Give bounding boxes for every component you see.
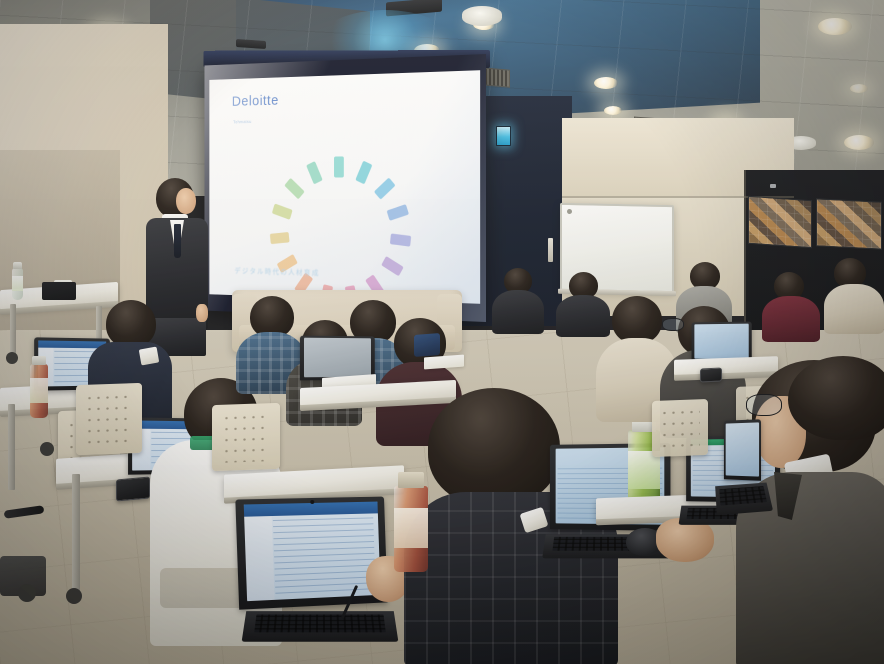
laptop-right-foreground[interactable]: [724, 419, 761, 481]
wheel-segment-12: [270, 232, 290, 244]
downlight-9: [844, 135, 874, 150]
slide-brand-deloitte: Deloitte: [232, 93, 279, 110]
seminar-room-photo: Deloitte Tohmatsu デジタル時代の人材育成: [0, 0, 884, 664]
amber-bottle-left[interactable]: [30, 364, 48, 418]
projection-screen[interactable]: Deloitte Tohmatsu デジタル時代の人材育成: [204, 54, 486, 322]
table-caster-c1: [66, 588, 82, 604]
laptop-center-front[interactable]: [235, 497, 387, 610]
laptop-webcam: [310, 500, 314, 504]
participant-back-center: [492, 268, 544, 332]
ceiling-speaker-1: [462, 6, 502, 26]
table-leg-a1: [10, 304, 16, 356]
equipment-box-left: [42, 282, 76, 300]
laptop-center-front-base[interactable]: [242, 611, 399, 642]
slide-color-wheel-icon: [299, 152, 381, 241]
video-panel-2[interactable]: [816, 198, 882, 249]
smartphone-right[interactable]: [700, 367, 722, 382]
amber-bottle-center[interactable]: [394, 486, 428, 572]
table-caster-a2: [40, 442, 54, 456]
glasses-right-grey: [662, 318, 684, 331]
table-caster-a1: [6, 352, 18, 364]
wheel-segment-5: [390, 234, 411, 247]
wheel-segment-15: [306, 161, 323, 184]
bottle-cap-center: [398, 472, 424, 488]
downlight-6: [604, 106, 622, 115]
bottle-cap-left: [13, 262, 22, 269]
participant-right-foreground: [736, 360, 884, 664]
emergency-exit-sign: [496, 126, 511, 146]
presenter-hand: [196, 304, 208, 322]
downlight-4: [594, 77, 618, 89]
participant-far-right: [824, 258, 884, 332]
whiteboard-corner-fitting: [567, 209, 572, 214]
laptop-center-mid[interactable]: [300, 336, 375, 381]
participant-right-rear: [762, 272, 820, 338]
wheel-segment-2: [355, 161, 372, 185]
presenter-tie: [174, 224, 181, 258]
downlight-5: [818, 18, 852, 35]
smartphone-on-table[interactable]: [116, 477, 150, 502]
laptop-right-foreground-base[interactable]: [715, 482, 773, 515]
wheel-segment-4: [387, 204, 409, 221]
whiteboard-side-bracket: [548, 238, 553, 262]
glasses-right-foreground: [746, 394, 782, 416]
bottle-cap-amber-left: [32, 356, 46, 365]
chair-caster-left: [18, 584, 36, 602]
blue-bag: [414, 333, 440, 357]
chair-right-1[interactable]: [652, 399, 708, 457]
wheel-segment-13: [272, 204, 293, 220]
chair-center-1[interactable]: [212, 403, 280, 471]
wheel-segment-1: [334, 157, 344, 178]
table-leg-c1: [72, 474, 80, 594]
downlight-10: [850, 84, 868, 93]
presenter-face: [176, 188, 196, 214]
slide-brand-subtitle: Tohmatsu: [233, 120, 251, 125]
table-leg-b1: [8, 404, 15, 490]
laptop-right-rear[interactable]: [692, 322, 752, 363]
wheel-segment-14: [284, 178, 304, 200]
presentation-slide: Deloitte Tohmatsu デジタル時代の人材育成: [209, 70, 480, 304]
slide-footer-text: デジタル時代の人材育成: [234, 266, 319, 279]
video-panel-1[interactable]: [748, 196, 812, 248]
chair-left-2[interactable]: [76, 383, 142, 455]
wheel-segment-6: [381, 256, 404, 276]
water-bottle-left[interactable]: [12, 268, 23, 300]
wheel-segment-3: [374, 178, 396, 200]
video-wall-indicator: [770, 184, 776, 188]
